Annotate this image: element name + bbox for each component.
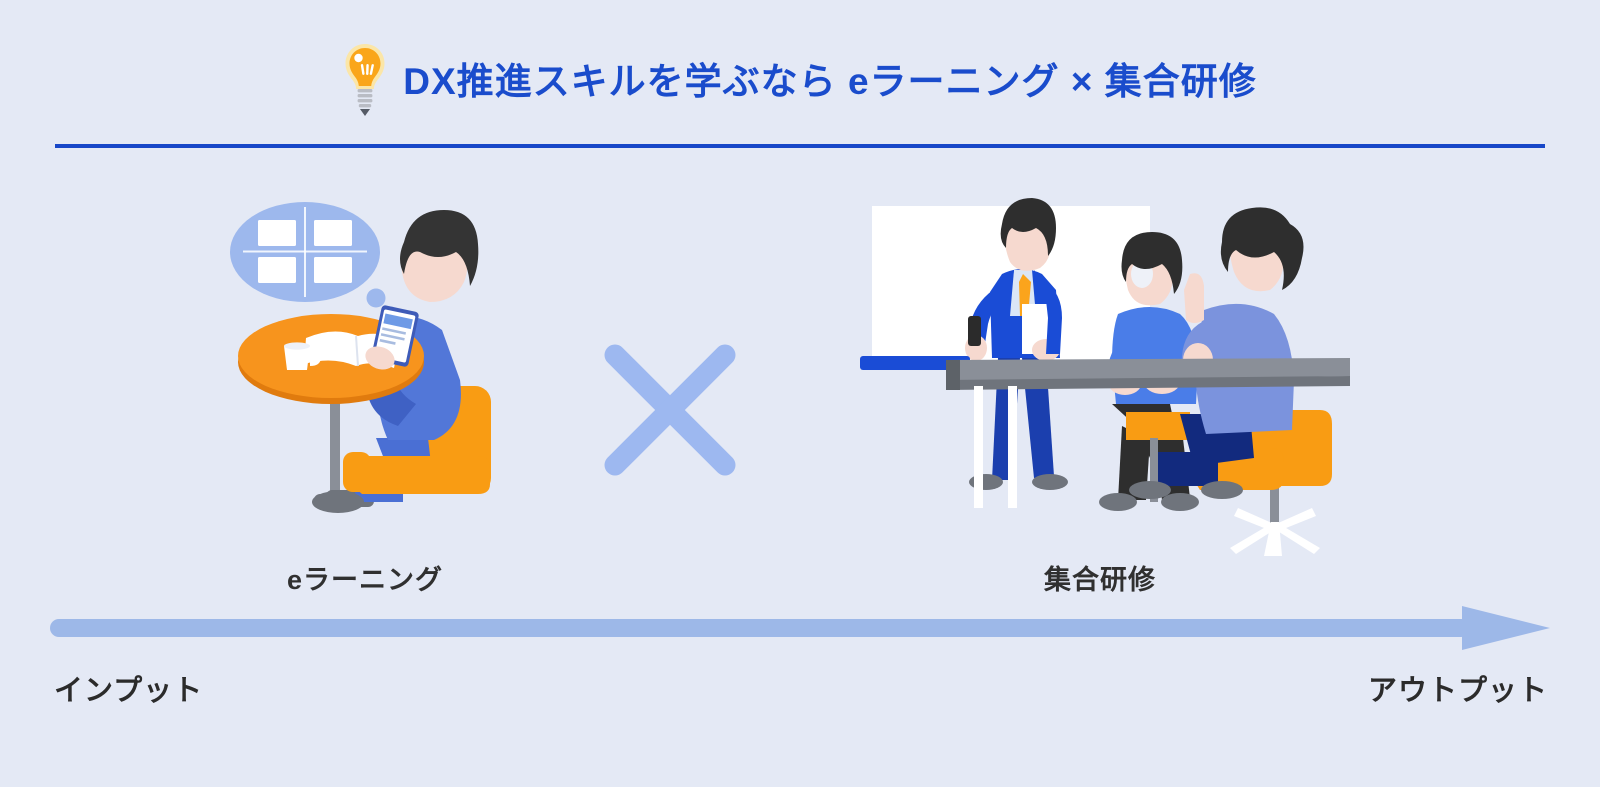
caption-group-training: 集合研修 <box>925 558 1275 597</box>
marker-pen <box>968 316 981 346</box>
caption-e-learning: eラーニング <box>185 558 545 597</box>
infographic-canvas: DX推進スキルを学ぶなら eラーニング × 集合研修 <box>0 0 1600 787</box>
input-output-arrow <box>50 604 1550 652</box>
thought-bubble <box>230 202 397 318</box>
header-divider <box>55 144 1545 148</box>
multiplication-cross-icon <box>596 336 744 484</box>
axis-label-output: アウトプット <box>1368 667 1548 709</box>
header: DX推進スキルを学ぶなら eラーニング × 集合研修 <box>0 0 1600 150</box>
e-learning-illustration <box>228 190 518 550</box>
group-training-illustration <box>850 190 1350 560</box>
lightbulb-icon <box>343 42 387 120</box>
header-content: DX推進スキルを学ぶなら eラーニング × 集合研修 <box>0 42 1600 120</box>
axis-label-input: インプット <box>54 667 203 709</box>
page-title: DX推進スキルを学ぶなら eラーニング × 集合研修 <box>403 63 1256 100</box>
